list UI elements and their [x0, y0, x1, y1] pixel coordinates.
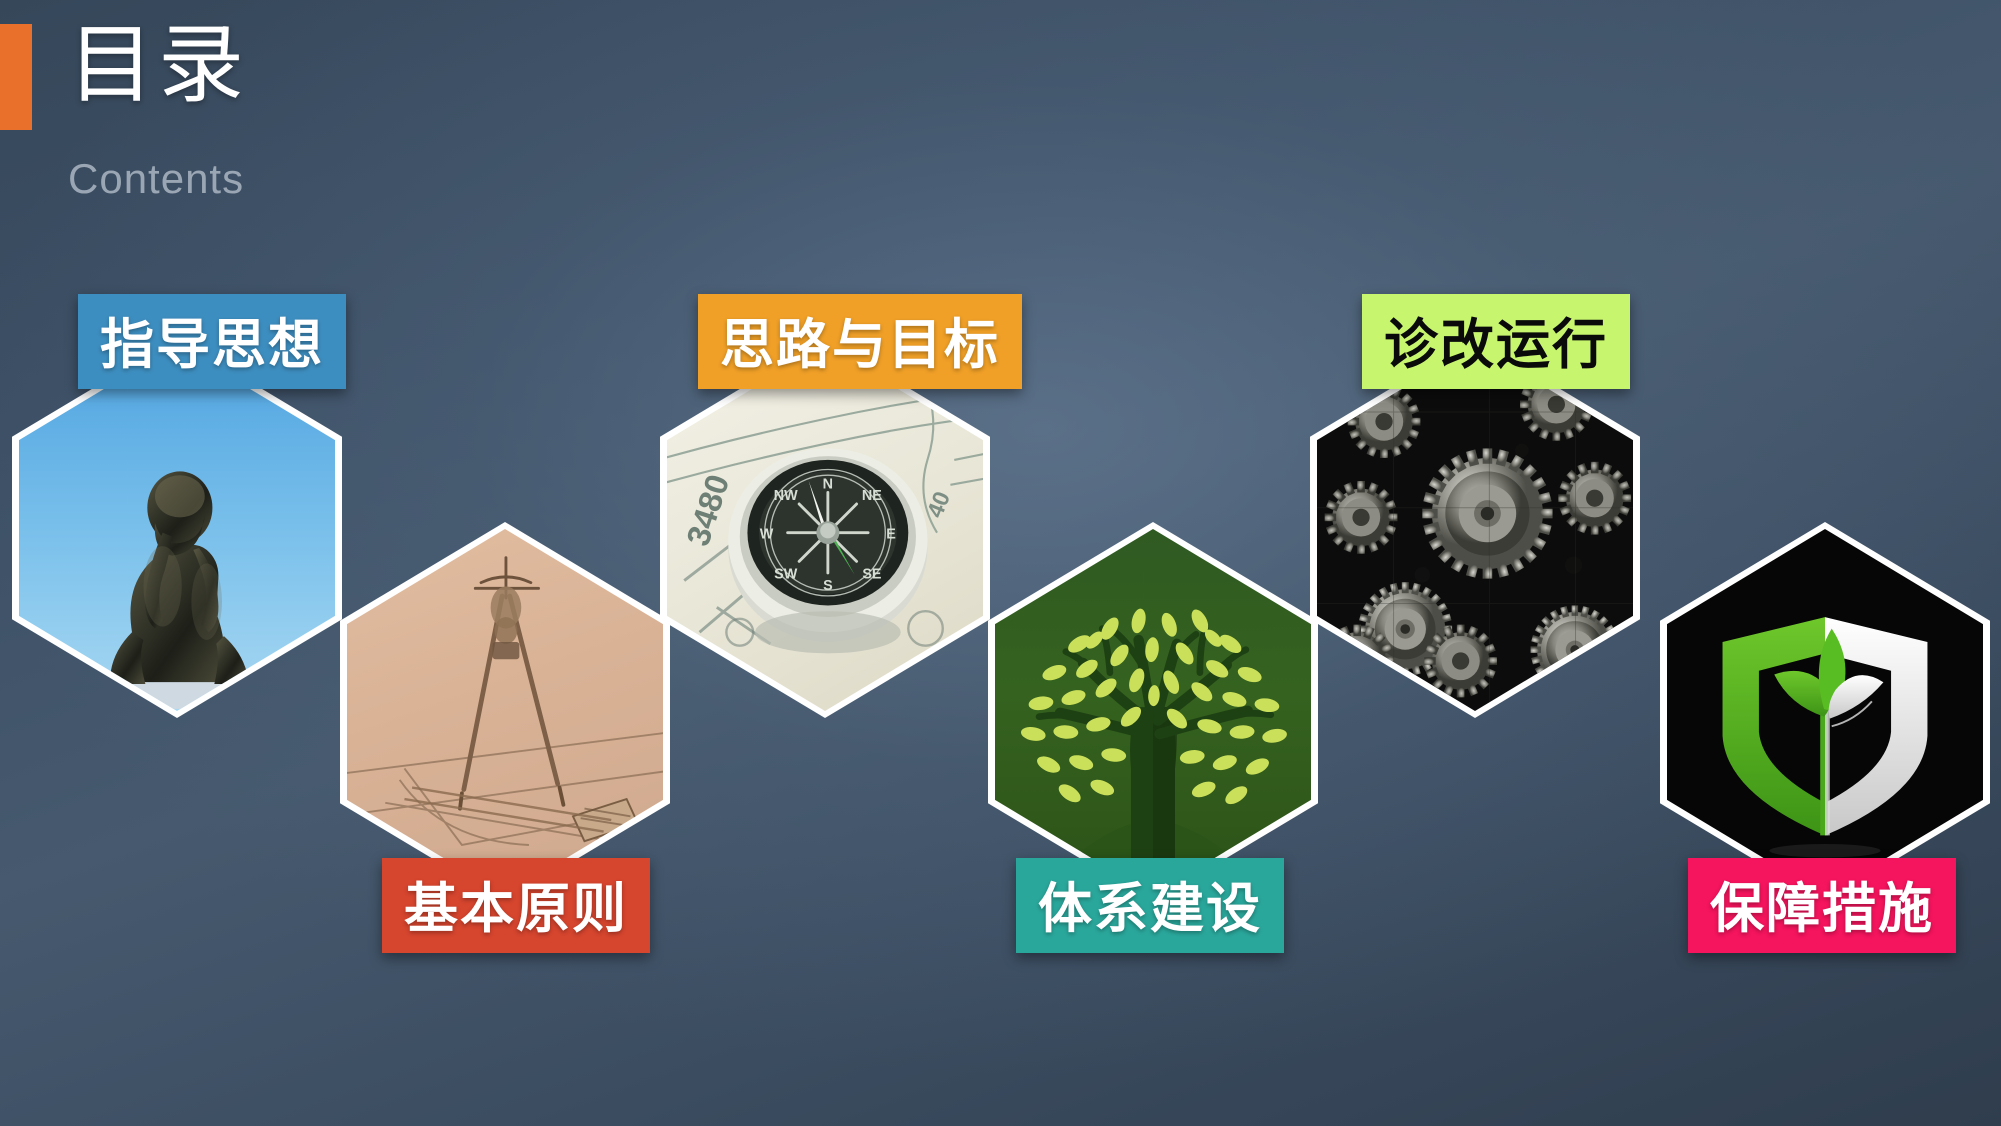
hex-label-4[interactable]: 体系建设	[1016, 858, 1284, 953]
svg-text:NW: NW	[774, 488, 798, 504]
hex-item-5[interactable]: 诊改运行	[1310, 338, 1640, 718]
page-subtitle: Contents	[68, 155, 244, 203]
svg-text:S: S	[823, 578, 833, 594]
drafting-compass-photo	[347, 529, 663, 895]
svg-text:E: E	[886, 526, 896, 542]
svg-text:NE: NE	[862, 488, 882, 504]
green-tree-illustration	[995, 529, 1311, 895]
hex-label-6[interactable]: 保障措施	[1688, 858, 1956, 953]
page-title: 目录	[68, 20, 248, 110]
hex-item-1[interactable]: 指导思想	[12, 338, 342, 718]
slide-canvas: 目录 Contents	[0, 0, 2001, 1126]
thinker-statue-photo	[19, 345, 335, 711]
hex-frame-4	[988, 522, 1318, 902]
shield-sprout-logo	[1667, 529, 1983, 895]
hex-frame-5	[1310, 338, 1640, 718]
hex-frame-2	[340, 522, 670, 902]
svg-text:SE: SE	[862, 567, 882, 583]
magnetic-compass-photo: 3480 40	[667, 345, 983, 711]
hex-frame-3: 3480 40	[660, 338, 990, 718]
hex-frame-6	[1660, 522, 1990, 902]
hex-frame-1	[12, 338, 342, 718]
hex-item-2[interactable]: 基本原则	[340, 522, 670, 902]
title-accent-bar	[0, 24, 32, 130]
hex-item-3[interactable]: 3480 40	[660, 338, 990, 718]
svg-text:40: 40	[921, 488, 955, 521]
svg-text:SW: SW	[774, 567, 798, 583]
svg-text:W: W	[760, 526, 774, 542]
hex-label-1[interactable]: 指导思想	[78, 294, 346, 389]
svg-text:3480: 3480	[680, 470, 737, 550]
hex-item-6[interactable]: 保障措施	[1660, 522, 1990, 902]
hex-label-3[interactable]: 思路与目标	[698, 294, 1022, 389]
hex-label-5[interactable]: 诊改运行	[1362, 294, 1630, 389]
hex-item-4[interactable]: 体系建设	[988, 522, 1318, 902]
svg-text:N: N	[823, 477, 833, 493]
mechanical-gears-photo	[1317, 345, 1633, 711]
hex-label-2[interactable]: 基本原则	[382, 858, 650, 953]
